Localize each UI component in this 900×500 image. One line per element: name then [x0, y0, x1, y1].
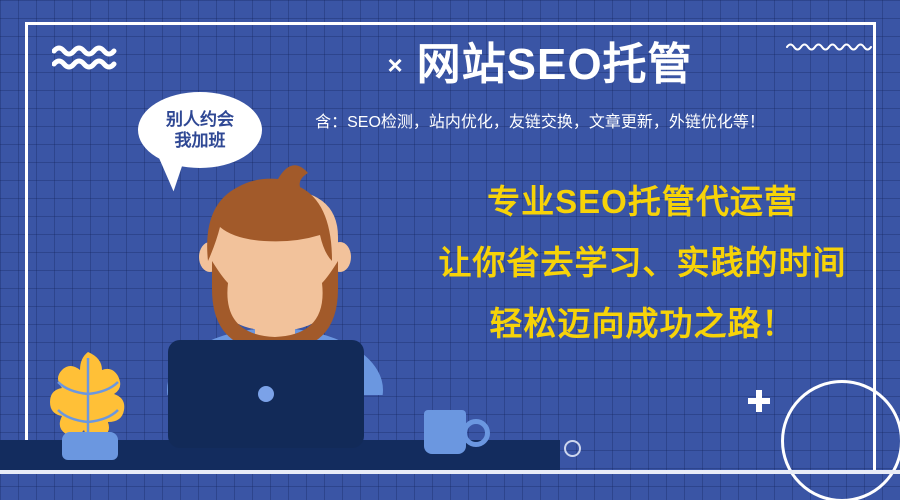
desk-edge-line: [0, 470, 900, 474]
wave-top-right-icon: [786, 40, 872, 54]
slogan-list: 专业SEO托管代运营 让你省去学习、实践的时间 轻松迈向成功之路！: [420, 185, 865, 340]
laptop: [168, 340, 364, 448]
slogan-line-1: 专业SEO托管代运营: [420, 185, 865, 218]
slogan-line-2: 让你省去学习、实践的时间: [420, 246, 865, 279]
speech-bubble-line-1: 别人约会: [166, 109, 234, 130]
speech-bubble-line-2: 我加班: [175, 130, 226, 151]
laptop-logo-dot: [258, 386, 274, 402]
title-text: 网站SEO托管: [417, 42, 693, 88]
mug-handle: [462, 419, 490, 447]
coffee-mug: [424, 410, 466, 454]
speech-bubble: 别人约会 我加班: [138, 92, 262, 168]
corner-circle-decoration: [781, 380, 900, 500]
seo-hosting-poster: × 网站SEO托管 含：SEO检测，站内优化，友链交换，文章更新，外链优化等！ …: [0, 0, 900, 500]
plant-pot: [62, 432, 118, 460]
small-circle-icon: [564, 440, 581, 457]
wave-top-left-icon: [52, 44, 128, 70]
slogan-line-3: 轻松迈向成功之路！: [420, 307, 865, 340]
x-mark-icon: ×: [387, 52, 402, 78]
subtitle-text: 含：SEO检测，站内优化，友链交换，文章更新，外链优化等！: [200, 112, 880, 134]
plus-mark-icon: [748, 390, 770, 412]
page-title: × 网站SEO托管: [330, 42, 750, 88]
